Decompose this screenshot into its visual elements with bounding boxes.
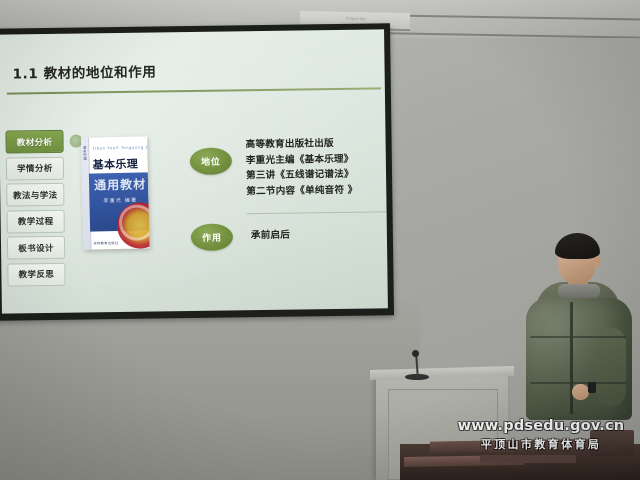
jacket-seam [530, 336, 626, 338]
nav-item-jiaoxue-guocheng[interactable]: 教学过程 [7, 209, 65, 233]
slide-content-note: 承前启后 [251, 227, 290, 242]
presenter [512, 232, 638, 420]
jacket-zipper [570, 302, 573, 414]
slide-nav: 教材分析 学情分析 教法与学法 教学过程 板书设计 教学反思 [5, 130, 65, 290]
nav-item-label: 教法与学法 [13, 188, 58, 201]
projection-screen-surface: 1.1 教材的地位和作用 教材分析 学情分析 教法与学法 教学过程 [0, 29, 388, 313]
chair-back [590, 430, 634, 456]
nav-item-banshu-sheji[interactable]: 板书设计 [7, 236, 65, 260]
desk-front-panel [480, 455, 576, 463]
nav-item-xueqing-fenxi[interactable]: 学情分析 [6, 156, 64, 180]
presenter-hand [572, 384, 589, 400]
badge-zuoyong: 作用 [191, 223, 233, 251]
book-title: 基本乐理 [92, 156, 138, 173]
presenter-ear [594, 256, 601, 267]
book-publisher: 高等教育出版社 [93, 240, 118, 246]
textbook-cover-image: 基本乐理 Jiben Yuell Tongyong Jiaocai 基本乐理 通… [81, 136, 150, 249]
lower-wall [0, 300, 420, 480]
nav-item-label: 教学反思 [19, 268, 55, 280]
nav-item-label: 教学过程 [18, 215, 54, 227]
title-underline [7, 87, 381, 94]
shirt-collar [558, 284, 600, 298]
microphone-icon [412, 350, 419, 357]
badge-label: 作用 [202, 231, 222, 244]
book-pinyin-line: Jiben Yuell Tongyong Jiaocai [93, 145, 149, 151]
presenter-hair [555, 233, 600, 259]
badge-label: 地位 [201, 155, 221, 168]
nav-item-jiaofa-yu-xuefa[interactable]: 教法与学法 [6, 183, 64, 207]
book-band-label: 通用教材 [94, 175, 146, 193]
nav-item-jiaocai-fenxi[interactable]: 教材分析 [5, 130, 63, 154]
jacket-right-sleeve [596, 328, 626, 406]
slide-title: 1.1 教材的地位和作用 [12, 60, 156, 82]
slide-content-list: 高等教育出版社出版 李重光主编《基本乐理》 第三讲《五线谱记谱法》 第二节内容《… [246, 135, 388, 199]
content-divider [247, 211, 387, 214]
screen-mount-label: Projector [346, 16, 366, 21]
wristwatch [588, 382, 596, 393]
classroom-photo-scene: Projector 1.1 教材的地位和作用 教材分析 学情分析 教法与学法 [0, 0, 640, 480]
nav-item-label: 板书设计 [18, 241, 54, 253]
badge-diwei: 地位 [190, 147, 232, 175]
nav-item-label: 教材分析 [17, 135, 53, 147]
content-line: 第二节内容《单纯音符 》 [246, 182, 388, 200]
nav-item-jiaoxue-fansi[interactable]: 教学反思 [7, 262, 65, 286]
book-spine-label: 基本乐理 [82, 146, 87, 161]
nav-item-label: 学情分析 [17, 162, 53, 174]
book-cover-band: 通用教材 李重光 编著 [89, 172, 149, 231]
projection-screen: 1.1 教材的地位和作用 教材分析 学情分析 教法与学法 教学过程 [0, 23, 394, 321]
presentation-slide: 1.1 教材的地位和作用 教材分析 学情分析 教法与学法 教学过程 [0, 29, 388, 313]
